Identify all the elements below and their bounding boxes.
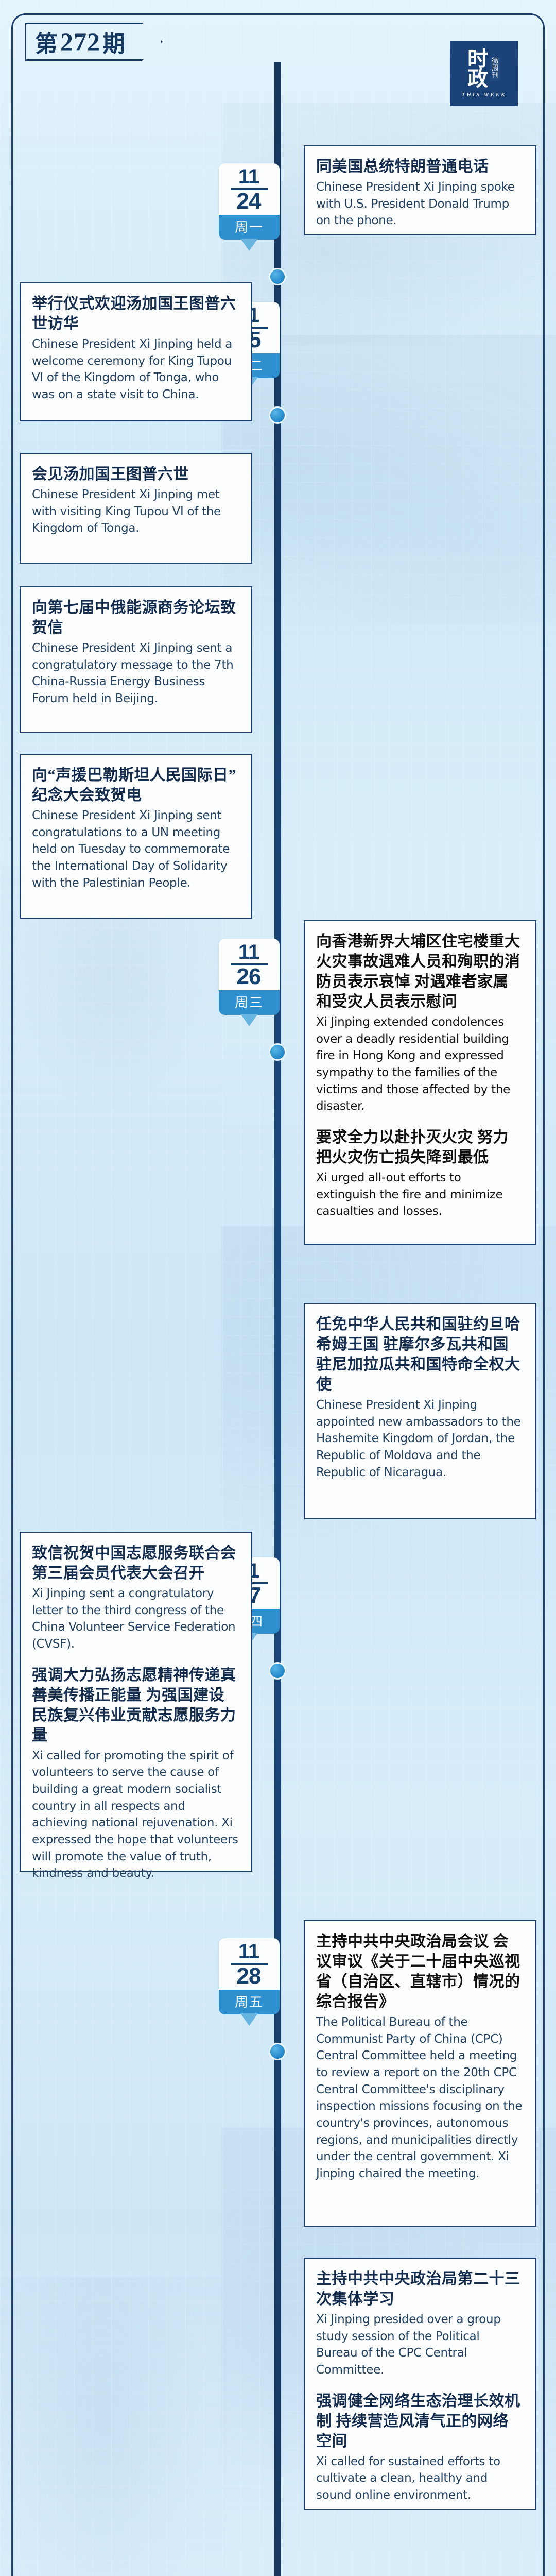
event-title-cn: 举行仪式欢迎汤加国王图普六世访华: [32, 294, 240, 334]
event-title-cn: 向香港新界大埔区住宅楼重大火灾事故遇难人员和殉职的消防员表示哀悼 对遇难者家属和…: [316, 931, 524, 1012]
timeline-dot-1126: [269, 1043, 286, 1061]
event-title-cn: 同美国总统特朗普通电话: [316, 157, 524, 177]
issue-badge-text: 第272期: [25, 23, 163, 61]
date-day: 24: [237, 191, 262, 212]
event-card-1125-welcome-ceremony[interactable]: 举行仪式欢迎汤加国王图普六世访华 Chinese President Xi Ji…: [20, 282, 252, 421]
event-title-en: Xi Jinping presided over a group study s…: [316, 2311, 524, 2379]
brand-logo-cn-line1: 时: [467, 49, 488, 69]
event-card-1124-phonecall[interactable]: 同美国总统特朗普通电话 Chinese President Xi Jinping…: [304, 145, 536, 235]
event-title-en: Chinese President Xi Jinping spoke with …: [316, 179, 524, 229]
brand-logo-side-line3: 刊: [492, 73, 499, 80]
event-subtitle-cn: 强调大力弘扬志愿精神传递真善美传播正能量 为强国建设民族复兴伟业贡献志愿服务力量: [32, 1665, 240, 1745]
event-card-1126-hongkong-fire[interactable]: 向香港新界大埔区住宅楼重大火灾事故遇难人员和殉职的消防员表示哀悼 对遇难者家属和…: [304, 920, 536, 1245]
event-card-1127-volunteer-congress[interactable]: 致信祝贺中国志愿服务联合会第三届会员代表大会召开 Xi Jinping sent…: [20, 1532, 252, 1872]
issue-prefix: 第: [35, 25, 58, 58]
date-weekday: 周五: [219, 1990, 280, 2014]
event-subtitle-en: Xi called for promoting the spirit of vo…: [32, 1748, 240, 1882]
date-weekday: 周三: [219, 990, 280, 1015]
event-title-cn: 主持中共中央政治局会议 会议审议《关于二十届中央巡视省（自治区、直辖市）情况的综…: [316, 1931, 524, 2012]
date-weekday: 周一: [219, 215, 280, 240]
event-card-1125-palestine-solidarity[interactable]: 向“声援巴勒斯坦人民国际日”纪念大会致贺电 Chinese President …: [20, 754, 252, 919]
issue-number: 272: [58, 27, 102, 57]
event-title-en: Xi Jinping extended condolences over a d…: [316, 1014, 524, 1115]
date-pointer-icon: [240, 2013, 258, 2026]
event-title-en: Chinese President Xi Jinping held a welc…: [32, 336, 240, 403]
event-card-1125-meet-king[interactable]: 会见汤加国王图普六世 Chinese President Xi Jinping …: [20, 453, 252, 564]
date-badge-top: 11 28: [219, 1938, 280, 1990]
brand-logo-main: 时 政 微 周 刊: [467, 49, 500, 89]
issue-suffix: 期: [102, 25, 126, 58]
date-month: 11: [238, 167, 260, 187]
brand-logo-cn-line2: 政: [467, 69, 488, 89]
event-card-1128-group-study[interactable]: 主持中共中央政治局第二十三次集体学习 Xi Jinping presided o…: [304, 2258, 536, 2510]
date-month: 11: [238, 1942, 260, 1961]
event-title-cn: 向第七届中俄能源商务论坛致贺信: [32, 598, 240, 638]
event-title-en: Xi Jinping sent a congratulatory letter …: [32, 1585, 240, 1653]
date-day: 26: [237, 967, 262, 987]
date-pointer-icon: [240, 1014, 258, 1026]
brand-logo-side: 微 周 刊: [490, 57, 500, 81]
timeline-dot-1125: [269, 406, 286, 424]
event-subtitle-en: Xi called for sustained efforts to culti…: [316, 2453, 524, 2504]
event-title-cn: 向“声援巴勒斯坦人民国际日”纪念大会致贺电: [32, 765, 240, 805]
event-title-en: The Political Bureau of the Communist Pa…: [316, 2014, 524, 2182]
event-title-cn: 会见汤加国王图普六世: [32, 464, 240, 484]
event-title-en: Chinese President Xi Jinping met with vi…: [32, 486, 240, 537]
event-subtitle-cn: 强调健全网络生态治理长效机制 持续营造风清气正的网络空间: [316, 2391, 524, 2451]
event-subtitle-en: Xi urged all-out efforts to extinguish t…: [316, 1170, 524, 1220]
brand-logo: 时 政 微 周 刊 THIS WEEK: [450, 41, 518, 106]
date-badge-1124[interactable]: 11 24 周一: [219, 163, 280, 240]
event-card-1128-politburo-meeting[interactable]: 主持中共中央政治局会议 会议审议《关于二十届中央巡视省（自治区、直辖市）情况的综…: [304, 1920, 536, 2227]
event-title-cn: 任免中华人民共和国驻约旦哈希姆王国 驻摩尔多瓦共和国 驻尼加拉瓜共和国特命全权大…: [316, 1314, 524, 1395]
event-title-en: Chinese President Xi Jinping sent congra…: [32, 807, 240, 891]
timeline-dot-1127: [269, 1662, 286, 1680]
brand-logo-en: THIS WEEK: [461, 92, 506, 98]
date-badge-1128[interactable]: 11 28 周五: [219, 1938, 280, 2014]
timeline-dot-1128: [269, 2043, 286, 2060]
event-card-1125-energy-forum[interactable]: 向第七届中俄能源商务论坛致贺信 Chinese President Xi Jin…: [20, 586, 252, 733]
date-pointer-icon: [240, 239, 258, 251]
infographic-page: 第272期 时 政 微 周 刊 THIS WEEK 11 24 周一: [0, 0, 556, 2576]
date-badge-top: 11 26: [219, 939, 280, 990]
event-title-en: Chinese President Xi Jinping sent a cong…: [32, 640, 240, 707]
brand-logo-side-line2: 周: [492, 65, 499, 73]
timeline-dot-1124: [269, 268, 286, 285]
brand-logo-cn: 时 政: [467, 49, 488, 89]
event-subtitle-cn: 要求全力以赴扑灭火灾 努力把火灾伤亡损失降到最低: [316, 1127, 524, 1167]
issue-badge: 第272期: [25, 23, 163, 61]
event-title-cn: 主持中共中央政治局第二十三次集体学习: [316, 2269, 524, 2309]
event-card-1126-ambassadors[interactable]: 任免中华人民共和国驻约旦哈希姆王国 驻摩尔多瓦共和国 驻尼加拉瓜共和国特命全权大…: [304, 1303, 536, 1519]
timeline-spine: [274, 62, 281, 2576]
brand-logo-side-line1: 微: [492, 58, 499, 65]
date-day: 28: [237, 1966, 262, 1987]
date-badge-top: 11 24: [219, 163, 280, 215]
event-title-cn: 致信祝贺中国志愿服务联合会第三届会员代表大会召开: [32, 1543, 240, 1583]
date-month: 11: [238, 943, 260, 962]
event-title-en: Chinese President Xi Jinping appointed n…: [316, 1397, 524, 1481]
date-badge-1126[interactable]: 11 26 周三: [219, 939, 280, 1015]
